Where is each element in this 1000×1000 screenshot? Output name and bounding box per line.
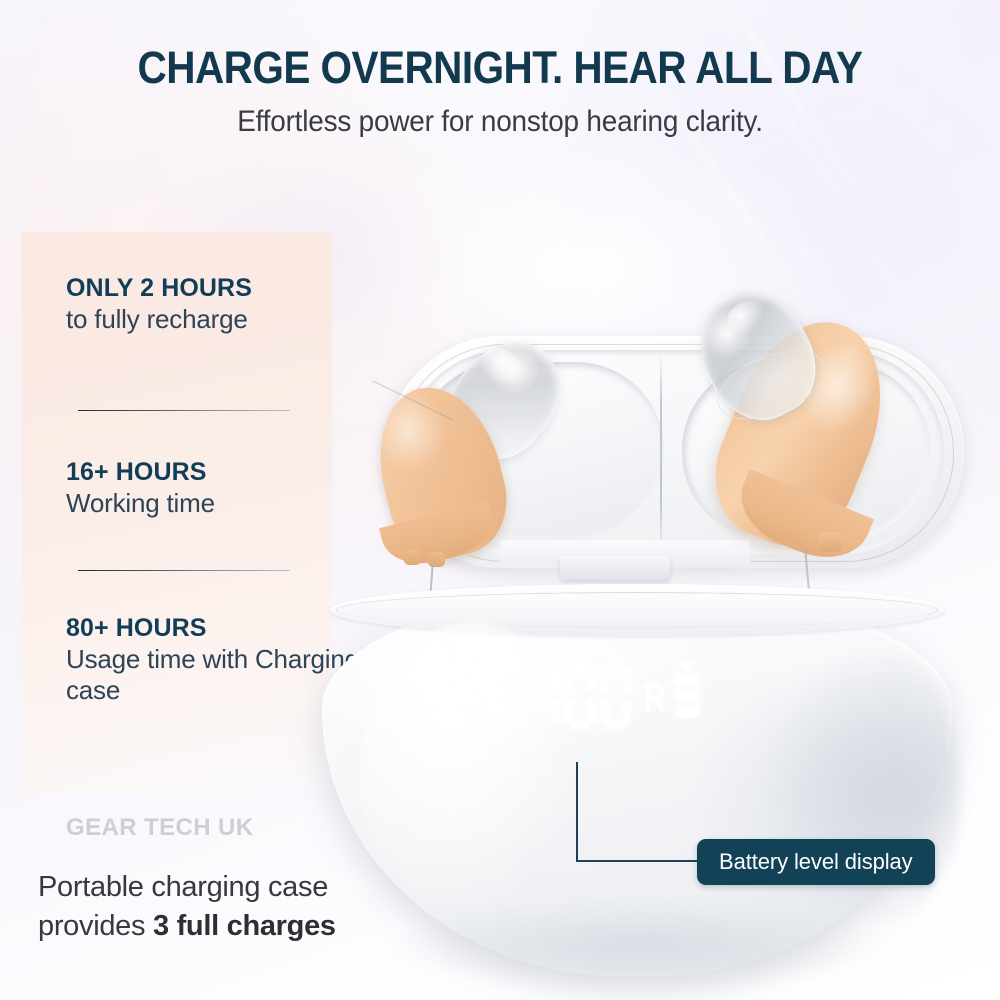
seven-segment-digit-1	[545, 663, 559, 729]
battery-level-display: L R	[482, 662, 699, 730]
channel-label-right: R	[644, 678, 666, 718]
battery-cap	[489, 662, 500, 669]
seven-segment-digit-0a	[565, 663, 595, 729]
battery-icon-right	[675, 662, 699, 730]
callout-leader-vertical	[576, 762, 578, 862]
product-illustration: L R Battery le	[0, 0, 1000, 1000]
charging-case-hinge	[560, 556, 670, 580]
battery-segment	[482, 706, 506, 717]
battery-percent-readout	[545, 663, 631, 729]
hearing-aid-right	[700, 286, 930, 616]
battery-cap	[682, 662, 693, 669]
charging-case-rim-line	[336, 592, 938, 628]
hearing-aid-contact-left-1	[404, 550, 421, 565]
battery-segment	[482, 690, 506, 701]
battery-segment	[675, 690, 699, 701]
battery-segment	[482, 674, 506, 685]
hearing-aid-contact-right-1	[818, 532, 842, 552]
battery-icon-left	[482, 662, 506, 730]
seven-segment-digit-0b	[601, 663, 631, 729]
hearing-aid-left	[372, 318, 552, 578]
battery-segment	[675, 706, 699, 717]
channel-label-left: L	[516, 678, 534, 718]
charging-case-lid-seam	[660, 352, 662, 552]
callout-badge-battery-level: Battery level display	[697, 839, 935, 885]
battery-segment	[675, 674, 699, 685]
charging-case-bottom-shading	[390, 900, 890, 990]
charging-case-shading	[760, 640, 960, 940]
callout-leader-horizontal	[576, 860, 706, 862]
marketing-graphic: CHARGE OVERNIGHT. HEAR ALL DAY Effortles…	[0, 0, 1000, 1000]
